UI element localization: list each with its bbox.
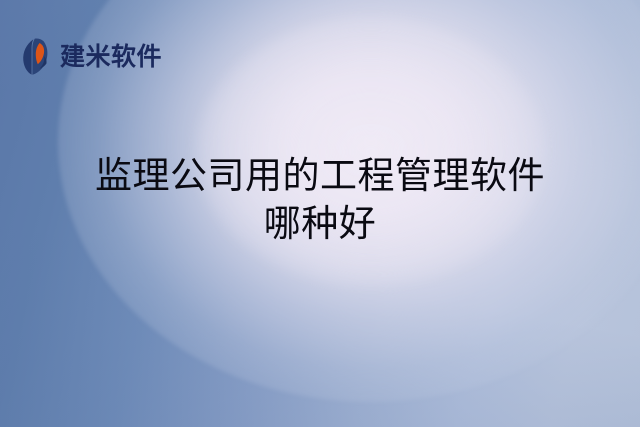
- headline-line-2: 哪种好: [0, 200, 640, 248]
- headline-line-1: 监理公司用的工程管理软件: [0, 152, 640, 200]
- brand-logo[interactable]: 建米软件: [22, 38, 162, 75]
- promo-banner: 建米软件 监理公司用的工程管理软件 哪种好: [0, 0, 640, 427]
- headline: 监理公司用的工程管理软件 哪种好: [0, 152, 640, 248]
- jianmi-leaf-mark-icon: [22, 38, 54, 75]
- brand-name: 建米软件: [60, 44, 162, 69]
